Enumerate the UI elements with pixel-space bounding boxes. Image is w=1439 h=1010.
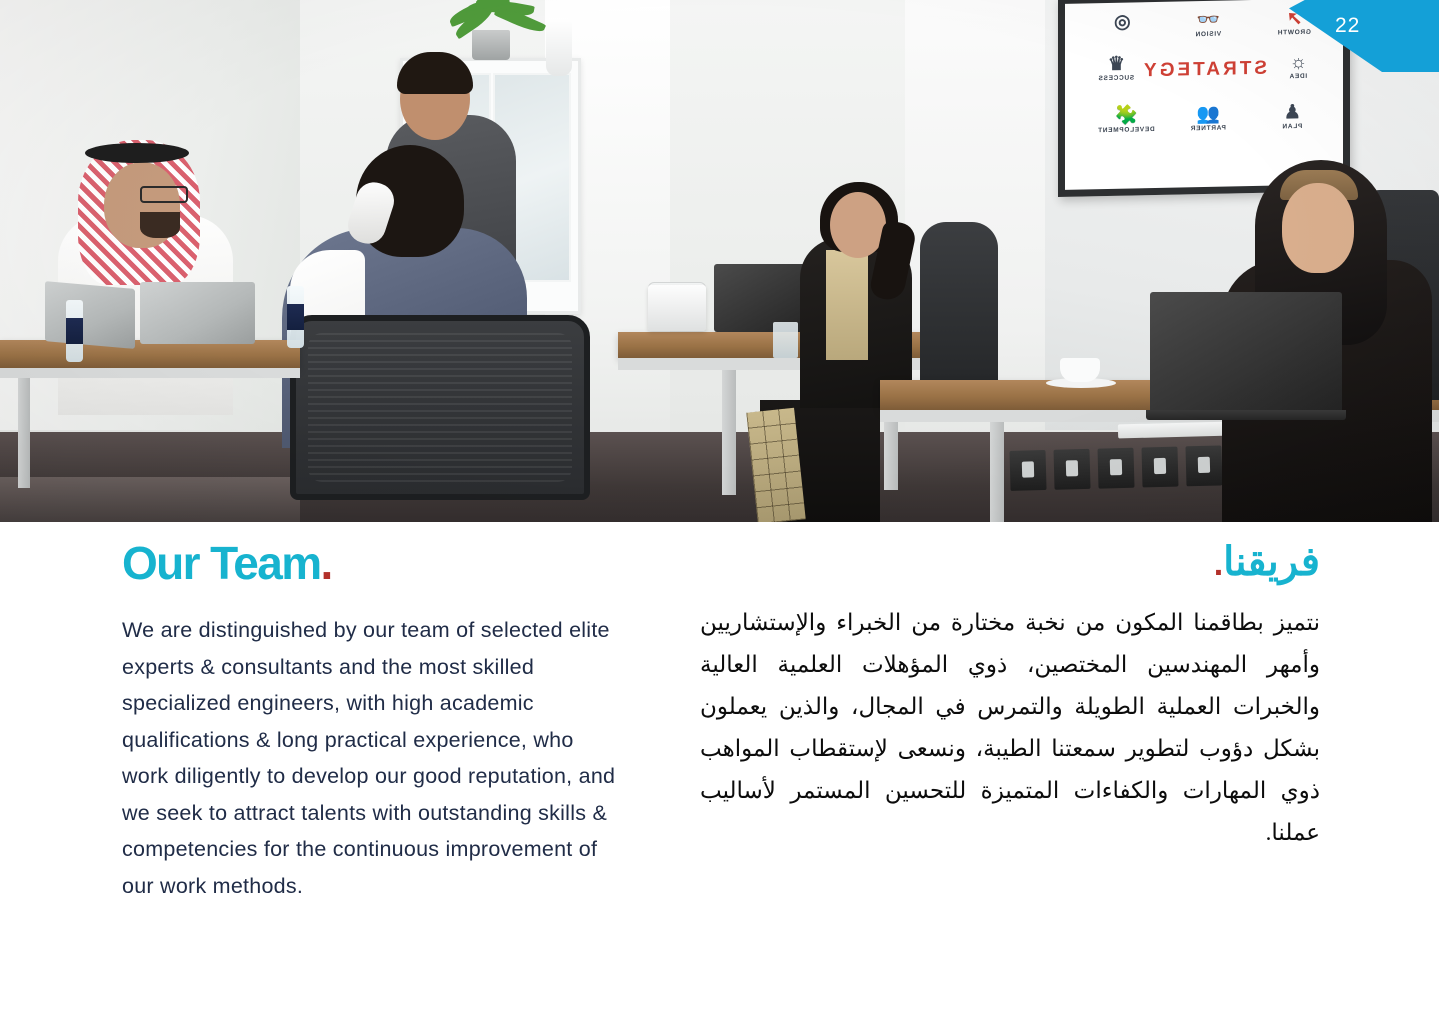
strategy-poster: STRATEGY ➚ GROWTH 👓 VISION ◎ ☼ IDEA (1065, 0, 1343, 190)
floor-left (0, 477, 300, 522)
plant-pot (472, 30, 510, 60)
english-body-text: We are distinguished by our team of sele… (122, 612, 702, 904)
laptop-right-base (1146, 410, 1346, 420)
content-section: Our Team. We are distinguished by our te… (0, 522, 1439, 1010)
arabic-column: فريقنا. نتميز بطاقمنا المكون من نخبة مخت… (700, 540, 1320, 854)
desk-left-edge (0, 368, 300, 378)
page-number: 22 (1335, 14, 1360, 38)
desk-phone (648, 285, 706, 331)
water-bottle-left (66, 300, 83, 362)
desk-left (0, 340, 300, 368)
chair-mesh-texture (308, 333, 572, 482)
target-bullseye-icon: ◎ (1091, 12, 1153, 33)
person-hijab-face (1282, 183, 1354, 273)
power-socket (1053, 449, 1090, 490)
arabic-heading-text: فريقنا (1223, 540, 1320, 584)
english-heading-dot: . (321, 537, 332, 589)
drinking-glass-center (773, 322, 798, 358)
lightbulb-icon: ☼ (1267, 52, 1329, 73)
brochure-page: STRATEGY ➚ GROWTH 👓 VISION ◎ ☼ IDEA (0, 0, 1439, 1010)
arabic-heading: فريقنا. (700, 540, 1320, 584)
eyeglasses-icon (140, 186, 188, 203)
poster-cell-plan: ♟ PLAN (1261, 103, 1323, 131)
desk-right-leg (990, 422, 1004, 522)
english-heading-text: Our Team (122, 537, 321, 589)
laptop-left-b (140, 282, 255, 344)
person-center-inner-top (826, 250, 868, 360)
trophy-icon: ♛ (1085, 54, 1147, 75)
power-socket (1097, 448, 1134, 489)
arabic-body-text: نتميز بطاقمنا المكون من نخبة مختارة من ا… (700, 602, 1320, 854)
binoculars-icon: 👓 (1177, 10, 1239, 31)
poster-cell-idea: ☼ IDEA (1267, 52, 1329, 80)
english-column: Our Team. We are distinguished by our te… (122, 540, 702, 904)
arabic-heading-dot: . (1214, 545, 1223, 583)
english-heading: Our Team. (122, 540, 702, 586)
laptop-left-a (45, 281, 135, 349)
poster-cell-vision: 👓 VISION (1177, 10, 1239, 38)
power-socket (1010, 450, 1047, 491)
desk-left-leg (18, 378, 30, 488)
poster-cell-success: ♛ SUCCESS (1085, 54, 1147, 82)
office-chair-mesh (290, 315, 590, 500)
plan-person-icon: ♟ (1261, 103, 1323, 124)
people-group-icon: 👥 (1177, 104, 1239, 125)
desk-center-leg-a (722, 370, 736, 495)
laptop-right (1150, 292, 1342, 414)
poster-cell-development: 🧩 DEVELOPMENT (1095, 106, 1157, 134)
puzzle-pieces-icon: 🧩 (1095, 106, 1157, 127)
wall-socket-strip (1010, 445, 1236, 491)
power-socket (1185, 445, 1222, 486)
water-bottle-left-2 (287, 286, 304, 348)
poster-cell-partner: 👥 PARTNER (1177, 104, 1239, 132)
person-thobe-beard (140, 212, 180, 238)
coffee-cup (1060, 358, 1100, 382)
decor-vase (546, 18, 572, 76)
person-thobe-agal (85, 143, 189, 163)
team-photo: STRATEGY ➚ GROWTH 👓 VISION ◎ ☼ IDEA (0, 0, 1439, 522)
poster-cell-target: ◎ (1091, 12, 1153, 33)
power-socket (1141, 447, 1178, 488)
